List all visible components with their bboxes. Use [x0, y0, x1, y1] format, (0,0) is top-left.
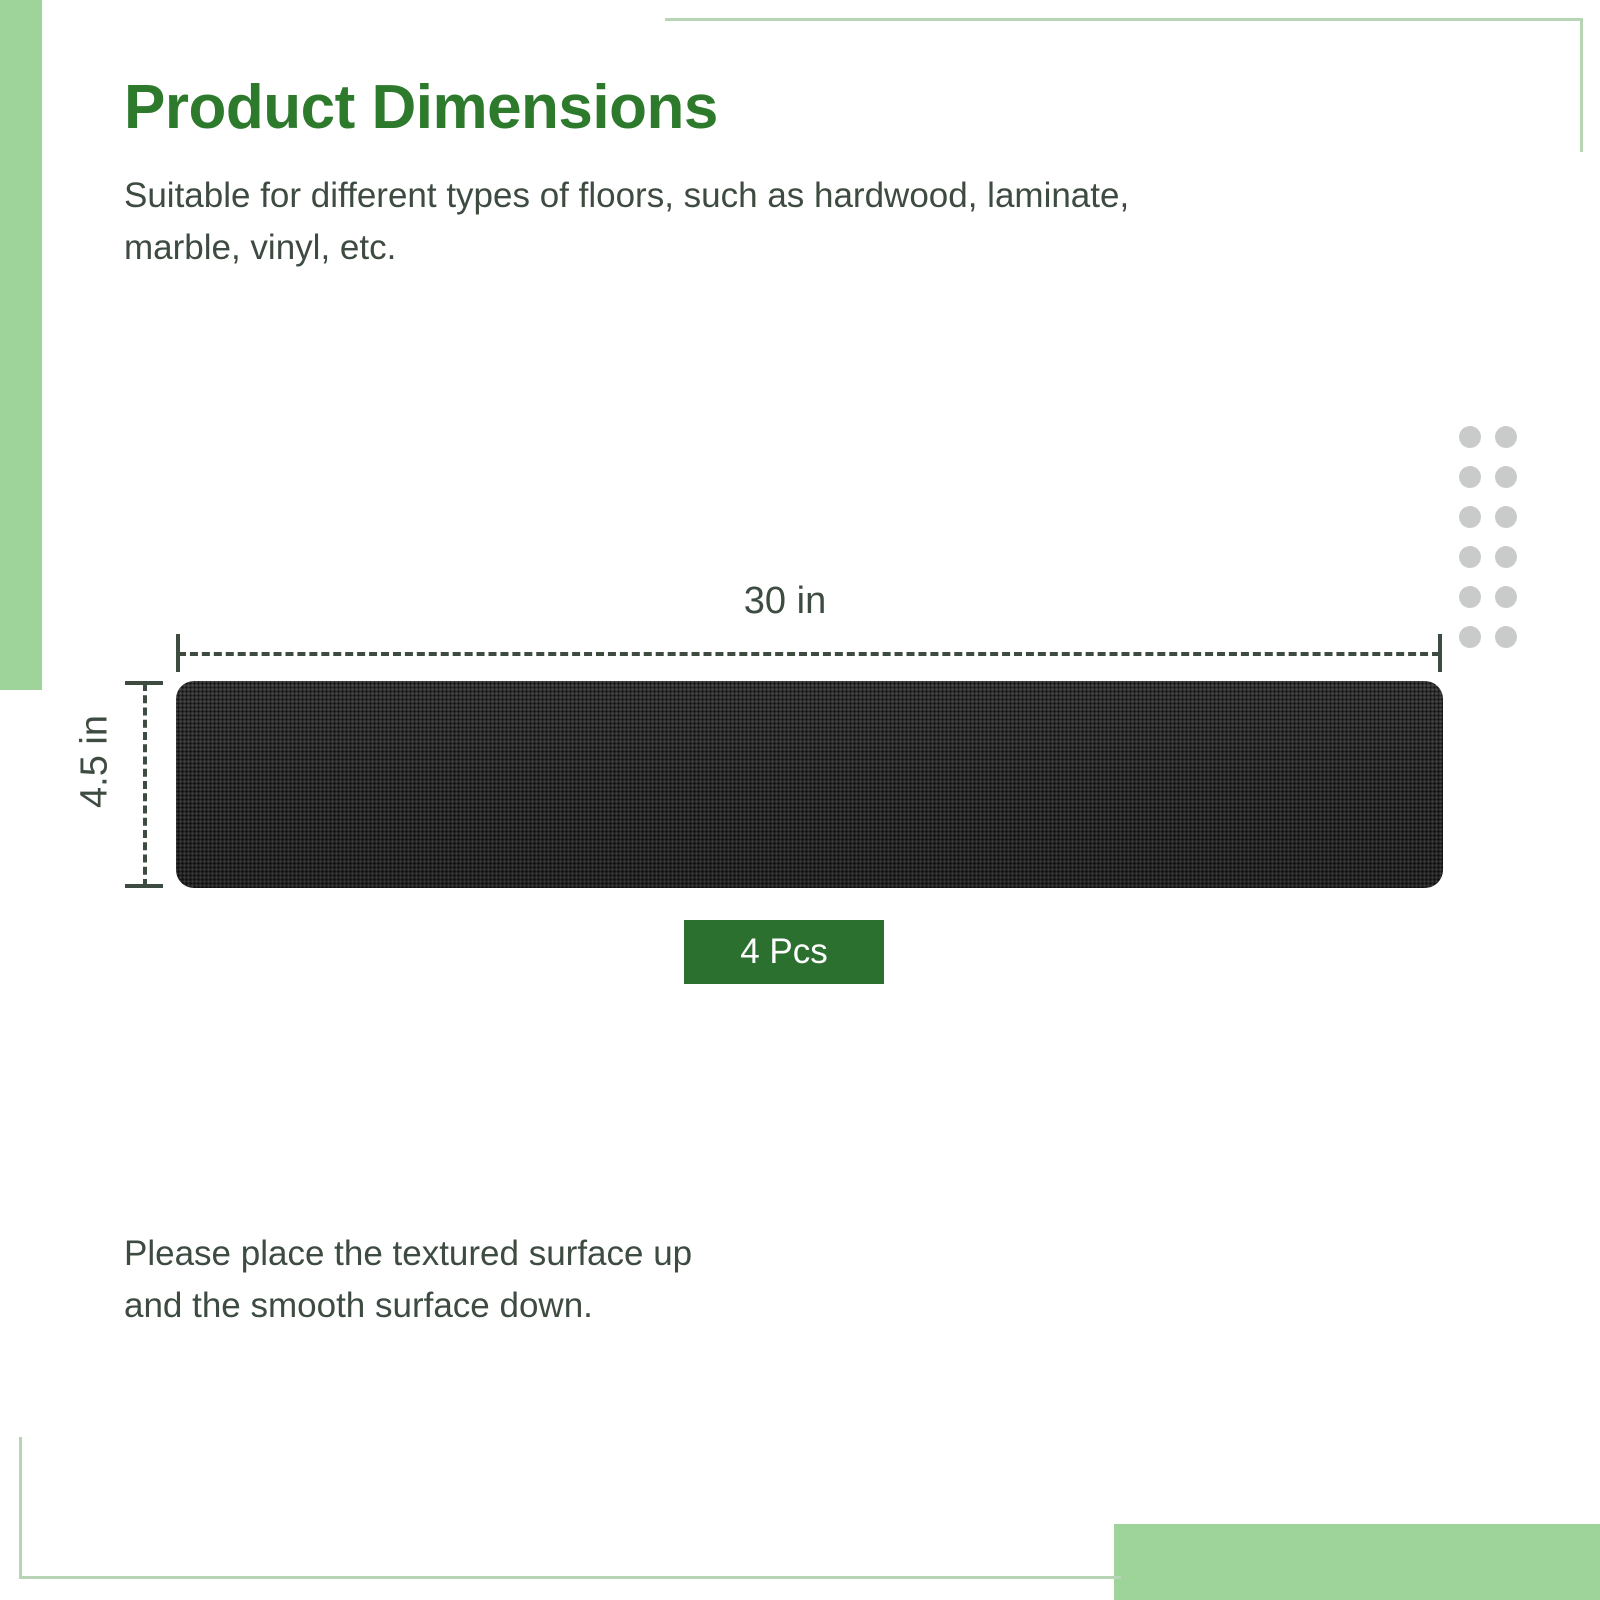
usage-note-line-1: Please place the textured surface up	[124, 1228, 1024, 1280]
frame-top-line	[665, 18, 1583, 21]
grid-dot	[1459, 506, 1481, 528]
grid-dot	[1459, 546, 1481, 568]
grid-dot	[1459, 426, 1481, 448]
quantity-badge: 4 Pcs	[684, 920, 884, 984]
frame-right-line	[1580, 18, 1583, 152]
grid-dot	[1495, 586, 1517, 608]
height-dimension-cap-top	[125, 681, 163, 685]
grid-dot	[1495, 426, 1517, 448]
grid-dot	[1459, 626, 1481, 648]
width-dimension-label: 30 in	[640, 580, 930, 623]
grid-dot	[1459, 586, 1481, 608]
width-dimension-line	[178, 652, 1440, 656]
height-dimension-label: 4.5 in	[74, 662, 117, 862]
width-dimension-cap-right	[1438, 634, 1442, 672]
page-subtitle: Suitable for different types of floors, …	[124, 170, 1254, 274]
product-mat-image	[176, 681, 1443, 888]
grid-dot	[1495, 626, 1517, 648]
grid-dot	[1495, 546, 1517, 568]
usage-note-line-2: and the smooth surface down.	[124, 1280, 1024, 1332]
dot-grid-decoration	[1459, 426, 1531, 666]
grid-dot	[1495, 506, 1517, 528]
height-dimension-cap-bottom	[125, 884, 163, 888]
frame-bottom-line	[19, 1576, 1121, 1579]
usage-note: Please place the textured surface up and…	[124, 1228, 1024, 1332]
accent-bar-left	[0, 0, 42, 690]
frame-left-line	[19, 1437, 22, 1579]
grid-dot	[1495, 466, 1517, 488]
width-dimension-cap-left	[176, 634, 180, 672]
grid-dot	[1459, 466, 1481, 488]
page-title: Product Dimensions	[124, 72, 718, 143]
infographic-page: Product Dimensions Suitable for differen…	[0, 0, 1600, 1600]
accent-block-bottom-right	[1114, 1524, 1600, 1600]
height-dimension-line	[143, 683, 147, 887]
